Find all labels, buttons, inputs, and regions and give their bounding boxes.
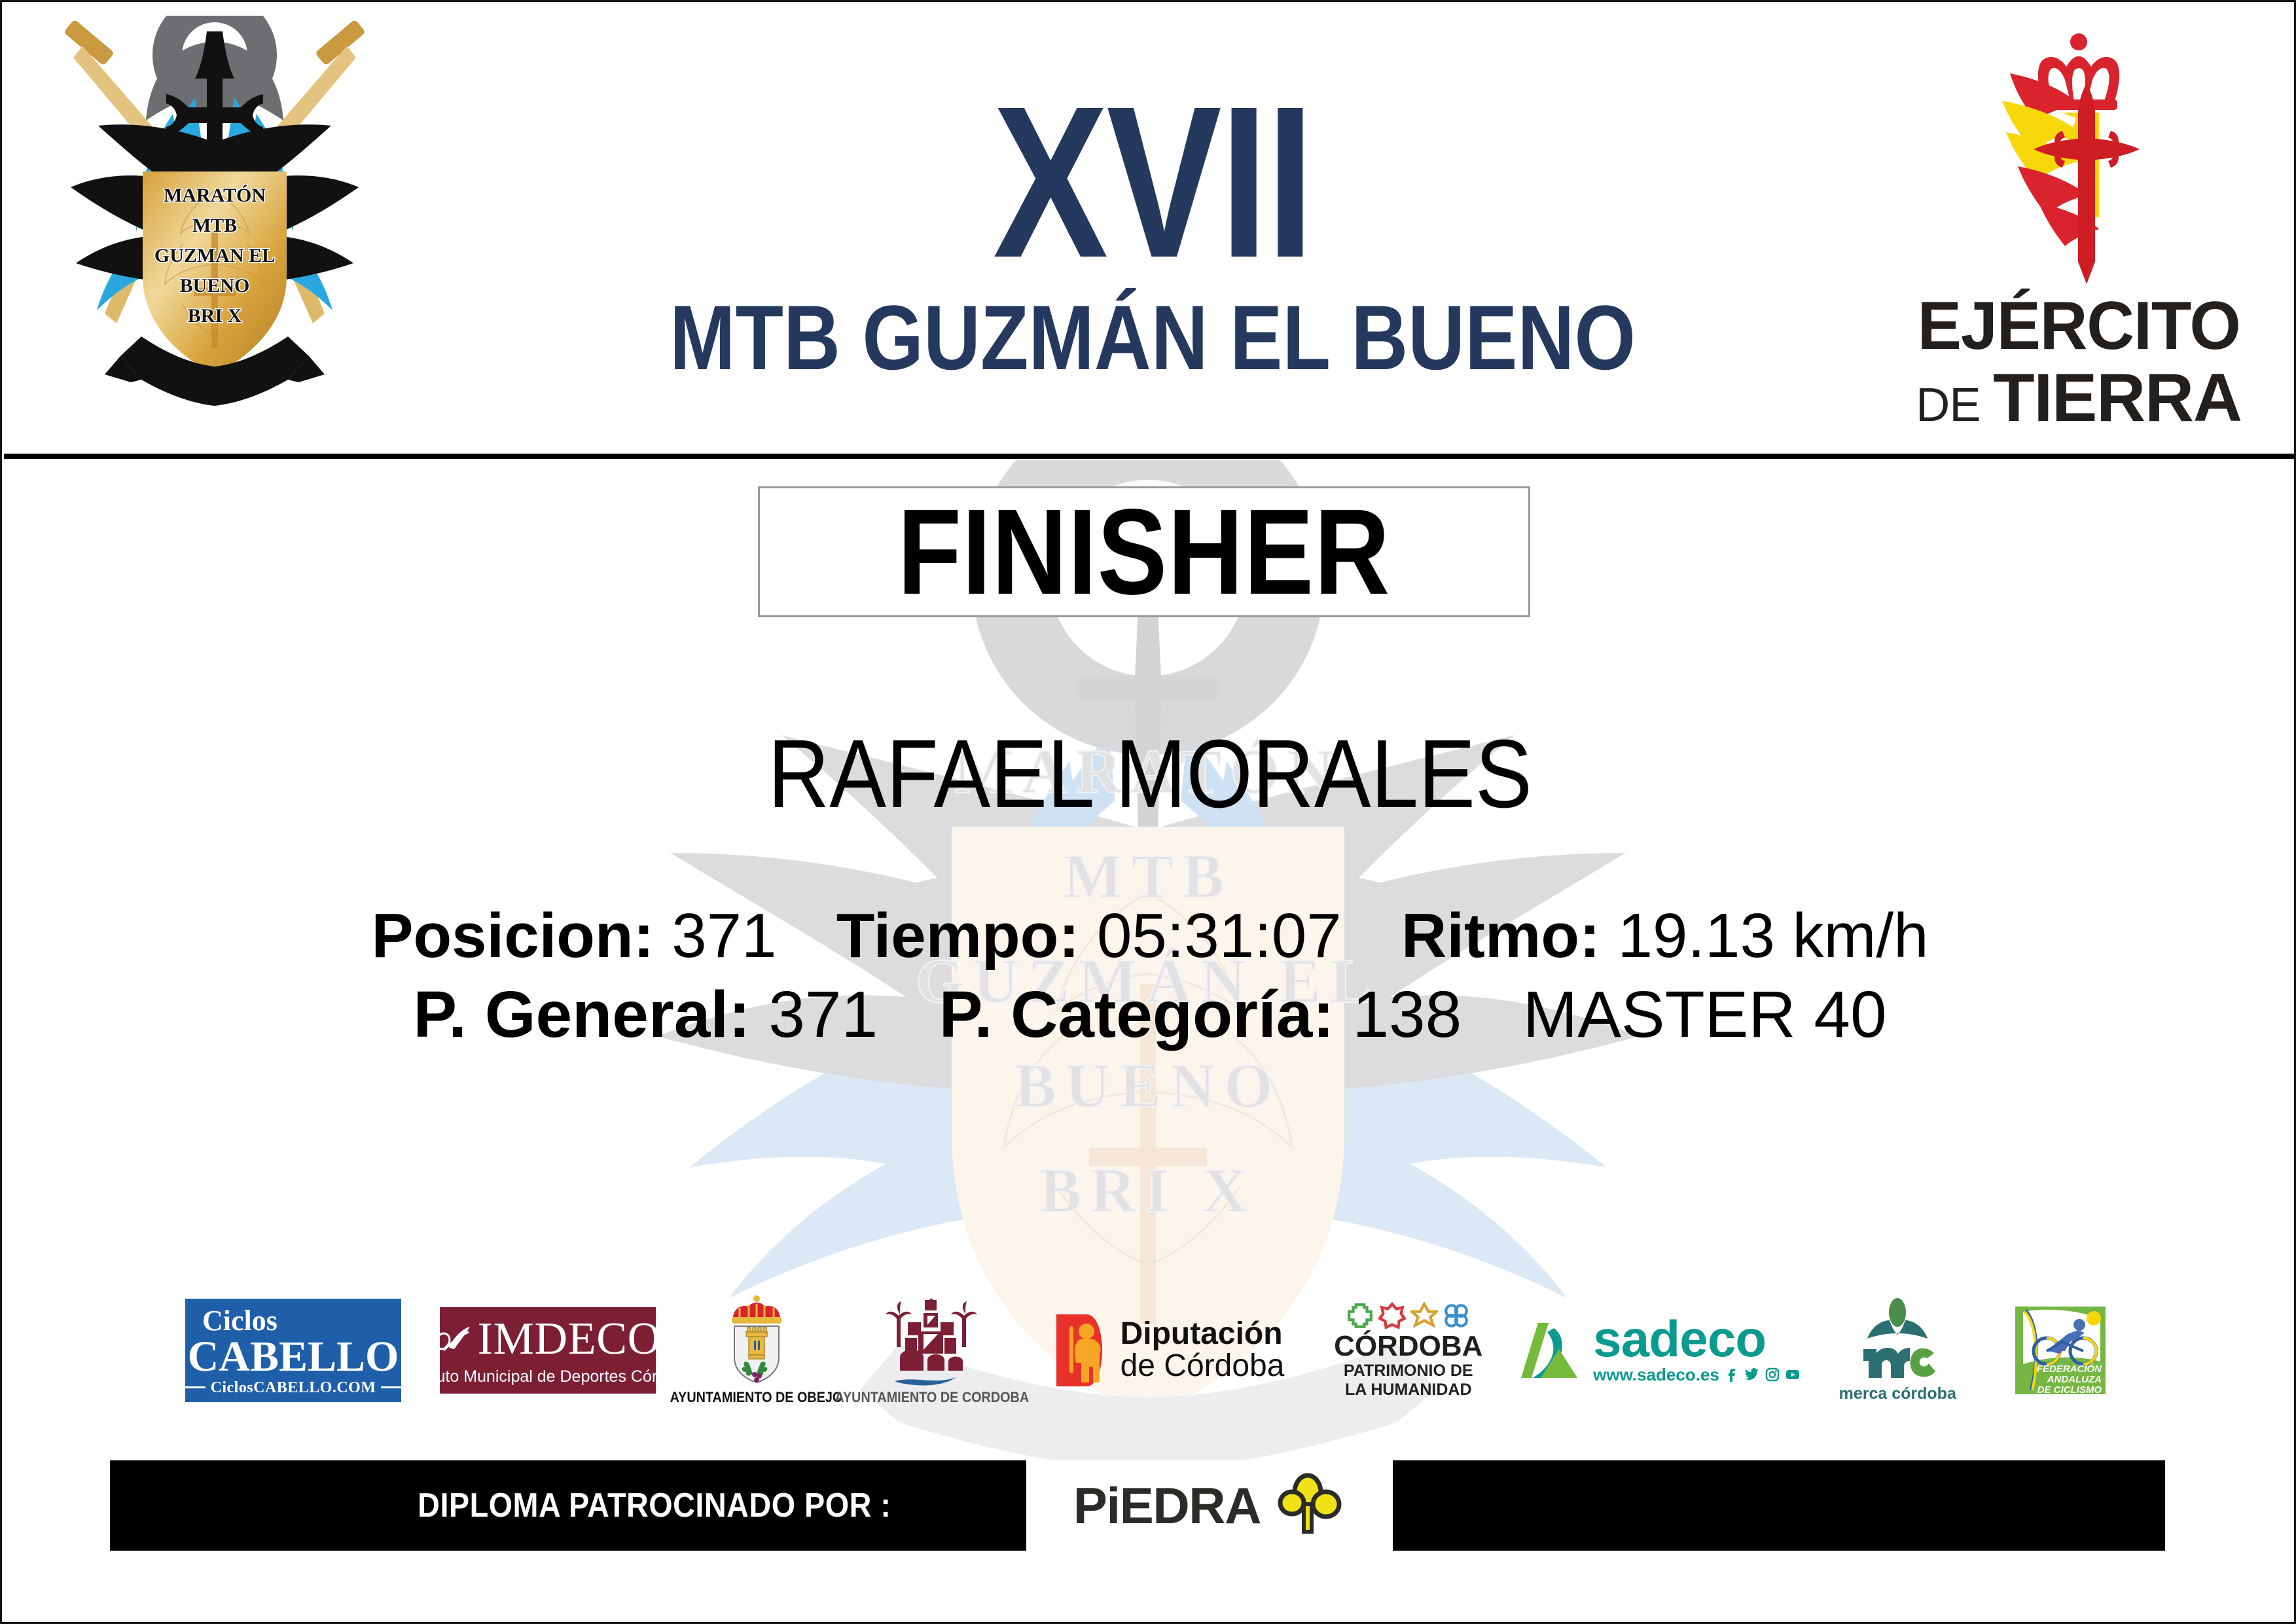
svg-text:ANDALUZA: ANDALUZA (2047, 1374, 2102, 1385)
sponsor-ciclos-cabello[interactable]: Ciclos CABELLO CiclosCABELLO.COM (185, 1299, 401, 1403)
results-line-1: Posicion: 371 Tiempo: 05:31:07 Ritmo: 19… (2, 900, 2296, 972)
finisher-certificate: MARATÓN MTB GUZMÁN EL BUENO BRI X (0, 0, 2296, 1624)
diputacion-figure-icon (1056, 1314, 1111, 1386)
sadeco-mountain-icon (1518, 1318, 1584, 1383)
posicion-general-label: P. General: (413, 978, 750, 1051)
cabello-url-text: CiclosCABELLO.COM (211, 1379, 376, 1398)
patrimonio-line-2-3: PATRIMONIO DE LA HUMANIDAD (1344, 1362, 1473, 1399)
svg-text:DE CICLISMO: DE CICLISMO (2037, 1384, 2102, 1396)
spanish-army-crown-sword-icon (1971, 27, 2187, 289)
results-line-2: P. General: 371 P. Categoría: 138 MASTER… (2, 977, 2296, 1053)
posicion-categoria-value: 138 (1352, 978, 1462, 1051)
ritmo-value: 19.13 km/h (1618, 901, 1929, 971)
patrimonio-icon-row (1346, 1302, 1470, 1329)
merca-cordoba-label: merca córdoba (1839, 1384, 1956, 1403)
army-de-text: DE (1916, 379, 1993, 431)
facebook-icon[interactable] (1724, 1367, 1740, 1382)
patrimonio-line-1: CÓRDOBA (1334, 1331, 1482, 1362)
sadeco-text: sadeco www.sadeco.es (1593, 1316, 1801, 1384)
event-crest-logo: MARATÓN MTB GUZMAN EL BUENO BRI X (45, 16, 385, 441)
posicion-general-value: 371 (768, 978, 878, 1051)
event-name: MTB GUZMÁN EL BUENO (670, 292, 1636, 384)
sadeco-url-row: www.sadeco.es (1593, 1365, 1801, 1385)
army-name-line-1: EJÉRCITO (1917, 292, 2240, 360)
sponsor-diputacion-cordoba[interactable]: Diputación de Córdoba (1046, 1314, 1295, 1386)
imdeco-title-row: IMDECO (435, 1316, 661, 1362)
cordoba-bridge-icon (876, 1295, 988, 1386)
sponsor-sadeco[interactable]: sadeco www.sadeco.es (1522, 1316, 1797, 1384)
green-cross-icon (1346, 1302, 1374, 1329)
sponsor-ayuntamiento-cordoba[interactable]: AYUNTAMIENTO DE CORDOBA (857, 1295, 1007, 1406)
merca-cordoba-mc-icon (1852, 1298, 1943, 1383)
svg-text:FEDERACIÓN: FEDERACIÓN (2037, 1363, 2102, 1375)
obejo-label: AYUNTAMIENTO DE OBEJO (670, 1389, 843, 1406)
sponsor-cordoba-patrimonio[interactable]: CÓRDOBA PATRIMONIO DE LA HUMANIDAD (1333, 1302, 1484, 1399)
categoria-value: MASTER 40 (1523, 978, 1887, 1051)
svg-text:MARATÓN: MARATÓN (164, 185, 266, 206)
sponsor-imdeco[interactable]: IMDECO Instituto Municipal de Deportes C… (440, 1307, 656, 1394)
athlete-name: RAFAEL MORALES (139, 719, 2160, 830)
finisher-label: FINISHER (898, 482, 1391, 622)
red-star-octagon-icon (1378, 1302, 1406, 1329)
sponsor-logo-row: Ciclos CABELLO CiclosCABELLO.COM IMDECO (185, 1282, 2123, 1419)
svg-text:BUENO: BUENO (180, 275, 250, 297)
sadeco-url: www.sadeco.es (1593, 1365, 1719, 1385)
cabello-rule-left (183, 1386, 206, 1388)
piedra-wordmark: PiEDRA (1073, 1476, 1261, 1536)
patrimonio-line-2: PATRIMONIO DE (1344, 1362, 1473, 1380)
cabello-line-1: Ciclos (202, 1307, 278, 1335)
event-title-block: XVII MTB GUZMÁN EL BUENO (501, 24, 1804, 442)
diputacion-line-2: de Córdoba (1121, 1350, 1285, 1382)
svg-text:MTB: MTB (192, 215, 237, 236)
footer-sponsor-bar: DIPLOMA PATROCINADO POR : PiEDRA (110, 1460, 2165, 1551)
twitter-icon[interactable] (1744, 1367, 1760, 1382)
patrimonio-line-3: LA HUMANIDAD (1345, 1380, 1472, 1399)
diputacion-text: Diputación de Córdoba (1121, 1318, 1285, 1382)
sponsor-merca-cordoba[interactable]: merca córdoba (1835, 1298, 1960, 1403)
blue-knot-icon (1443, 1302, 1470, 1329)
svg-text:GUZMAN EL: GUZMAN EL (154, 245, 275, 266)
ritmo-label: Ritmo: (1401, 901, 1600, 971)
cabello-line-2: CABELLO (188, 1335, 399, 1379)
imdeco-name: IMDECO (478, 1316, 661, 1362)
posicion-value: 371 (672, 901, 776, 971)
sponsor-federacion-andaluza-ciclismo[interactable]: FEDERACIÓN ANDALUZA DE CICLISMO (1998, 1301, 2123, 1399)
winged-shield-crest-icon: MARATÓN MTB GUZMAN EL BUENO BRI X (45, 16, 385, 441)
tiempo-label: Tiempo: (836, 901, 1080, 971)
army-name-line-2: DE TIERRA (1916, 364, 2242, 432)
cabello-rule-right (381, 1386, 403, 1388)
header-divider (4, 454, 2296, 459)
federacion-ciclismo-icon: FEDERACIÓN ANDALUZA DE CICLISMO (2011, 1301, 2109, 1399)
posicion-label: Posicion: (371, 901, 654, 971)
instagram-icon[interactable] (1765, 1367, 1780, 1382)
cabello-url: CiclosCABELLO.COM (183, 1379, 404, 1398)
piedra-sponsor-logo[interactable]: PiEDRA (1026, 1460, 1393, 1551)
army-tierra-text: TIERRA (1993, 360, 2242, 436)
gold-star-icon (1410, 1302, 1438, 1329)
posicion-categoria-label: P. Categoría: (939, 978, 1335, 1051)
diputacion-line-1: Diputación (1121, 1318, 1285, 1350)
obejo-coat-of-arms-icon (717, 1295, 796, 1386)
cordoba-label: AYUNTAMIENTO DE CORDOBA (835, 1389, 1030, 1406)
edition-number: XVII (993, 82, 1312, 281)
diploma-sponsored-by-label: DIPLOMA PATROCINADO POR : (418, 1486, 891, 1525)
finisher-badge: FINISHER (758, 486, 1530, 617)
sponsor-ayuntamiento-obejo[interactable]: AYUNTAMIENTO DE OBEJO (694, 1295, 819, 1406)
sadeco-name: sadeco (1593, 1316, 1801, 1362)
certificate-header: MARATÓN MTB GUZMAN EL BUENO BRI X XVII M… (4, 4, 2296, 457)
youtube-icon[interactable] (1785, 1367, 1801, 1382)
svg-text:BRI X: BRI X (188, 305, 242, 327)
imdeco-tagline: Instituto Municipal de Deportes Córdoba (402, 1366, 694, 1388)
imdeco-swirl-icon (435, 1323, 471, 1356)
spanish-army-logo: EJÉRCITO DE TIERRA (1882, 27, 2275, 440)
piedra-tree-icon (1267, 1473, 1346, 1538)
watermark-line-5: BRI X (493, 1154, 1803, 1227)
watermark-line-4: BUENO (493, 1049, 1803, 1122)
tiempo-value: 05:31:07 (1097, 901, 1342, 971)
